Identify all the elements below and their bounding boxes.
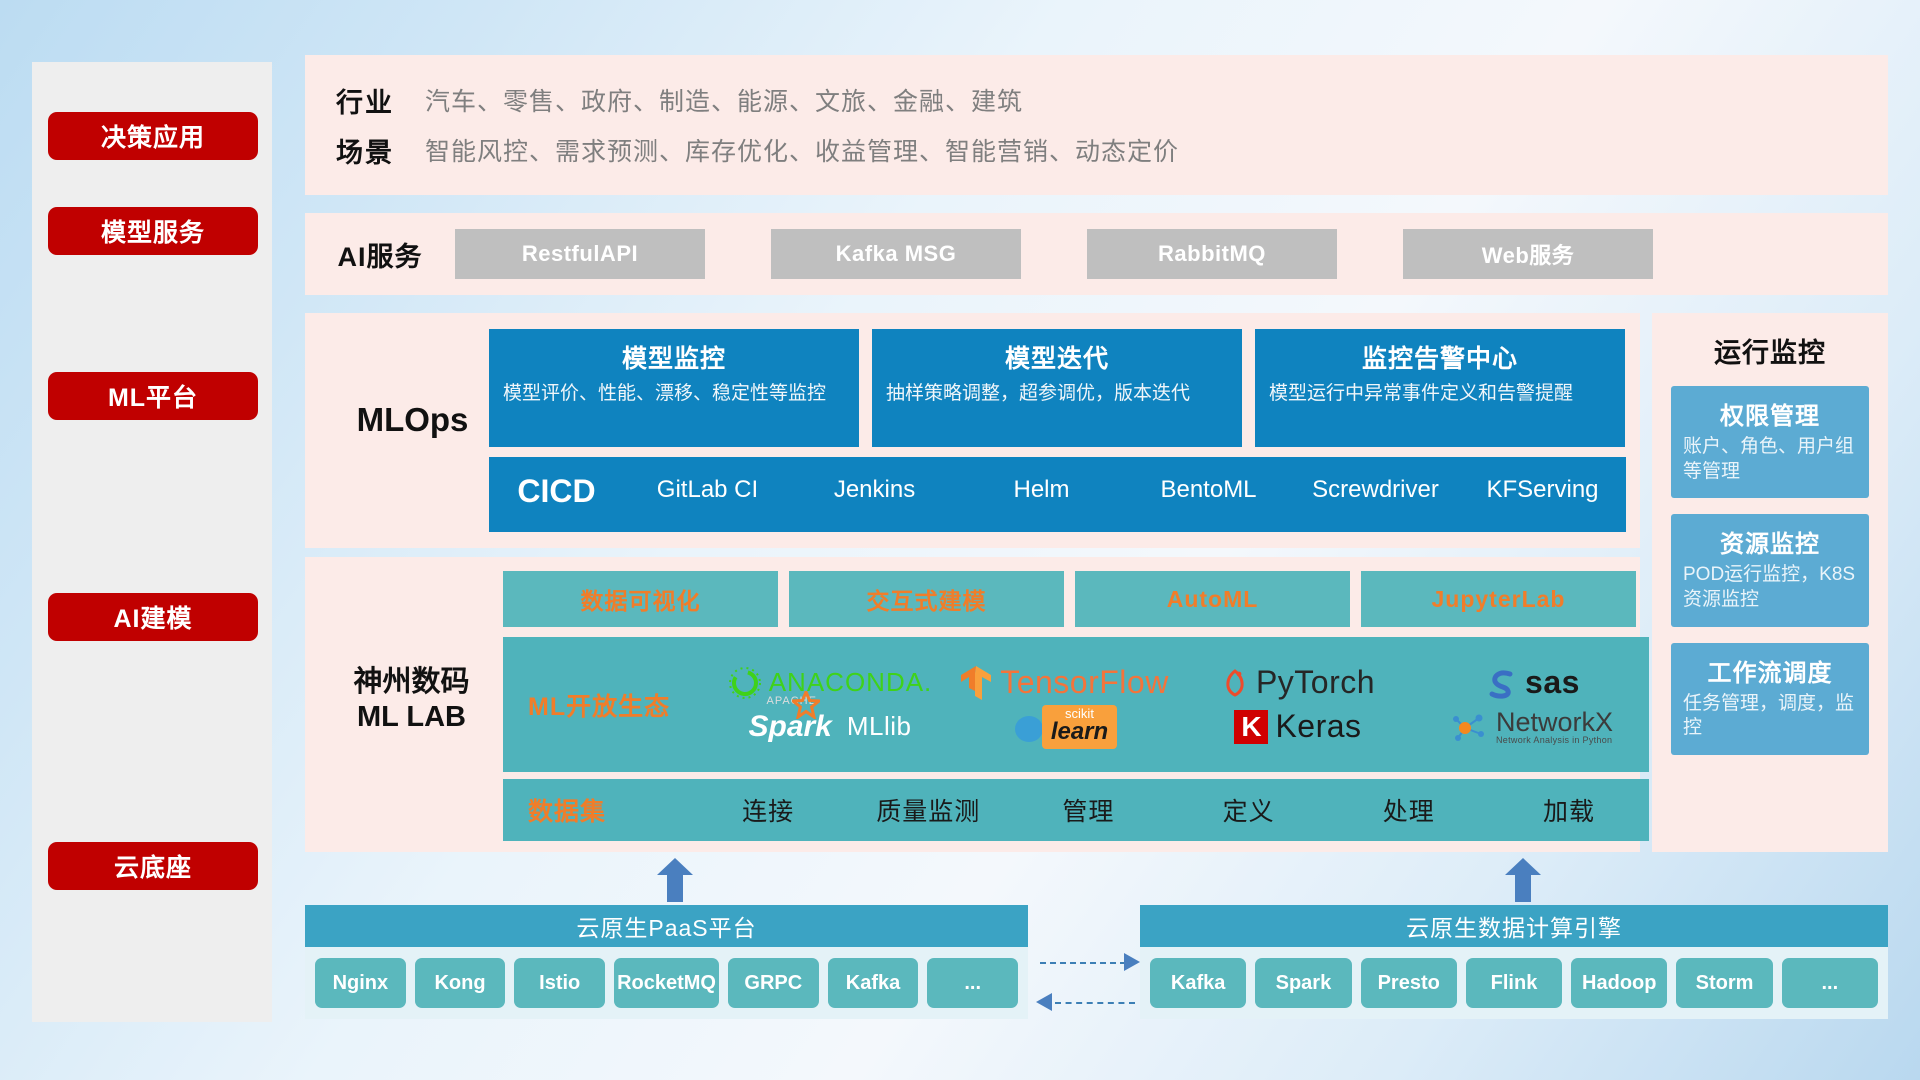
tool-box-interactive-modeling[interactable]: 交互式建模 bbox=[789, 571, 1064, 627]
data-engine-chip-group: Kafka Spark Presto Flink Hadoop Storm ..… bbox=[1140, 947, 1888, 1019]
mlops-card-model-iteration[interactable]: 模型迭代 抽样策略调整，超参调优，版本迭代 bbox=[872, 329, 1242, 447]
connector-arrowhead-right bbox=[1124, 953, 1140, 971]
data-compute-engine-title: 云原生数据计算引擎 bbox=[1140, 905, 1888, 947]
dataset-item-quality-check[interactable]: 质量监测 bbox=[848, 792, 1008, 828]
runtime-monitoring-title: 运行监控 bbox=[1652, 313, 1888, 370]
ai-service-label: AI服务 bbox=[305, 235, 455, 274]
card-title: 模型迭代 bbox=[886, 339, 1228, 375]
diagram-canvas: 决策应用 模型服务 ML平台 AI建模 云底座 行业 汽车、零售、政府、制造、能… bbox=[0, 0, 1920, 1080]
tool-box-jupyterlab[interactable]: JupyterLab bbox=[1361, 571, 1636, 627]
mlops-card-model-monitoring[interactable]: 模型监控 模型评价、性能、漂移、稳定性等监控 bbox=[489, 329, 859, 447]
scenario-row: 场景 智能风控、需求预测、库存优化、收益管理、智能营销、动态定价 bbox=[305, 125, 1888, 175]
monitor-card-resource[interactable]: 资源监控 POD运行监控，K8S资源监控 bbox=[1671, 514, 1869, 626]
engine-chip-storm[interactable]: Storm bbox=[1676, 958, 1772, 1008]
ml-lab-label-line1: 神州数码 bbox=[319, 665, 504, 700]
up-arrow-data-engine-icon bbox=[1503, 858, 1543, 902]
runtime-monitoring-band: 运行监控 权限管理 账户、角色、用户组等管理 资源监控 POD运行监控，K8S资… bbox=[1652, 313, 1888, 852]
mllib-wordmark: MLlib bbox=[847, 711, 912, 742]
dataset-item-define[interactable]: 定义 bbox=[1169, 792, 1329, 828]
card-desc: 抽样策略调整，超参调优，版本迭代 bbox=[886, 381, 1228, 406]
engine-chip-presto[interactable]: Presto bbox=[1361, 958, 1457, 1008]
anaconda-logo: ANACONDA. bbox=[728, 666, 933, 700]
connector-dash-right bbox=[1040, 962, 1126, 964]
pytorch-mark-icon bbox=[1221, 666, 1249, 700]
networkx-graph-icon bbox=[1451, 710, 1489, 744]
rail-item-ml-platform[interactable]: ML平台 bbox=[48, 372, 258, 420]
mlops-card-group: 模型监控 模型评价、性能、漂移、稳定性等监控 模型迭代 抽样策略调整，超参调优，… bbox=[489, 329, 1625, 447]
engine-chip-kafka[interactable]: Kafka bbox=[1150, 958, 1246, 1008]
paas-platform-block: 云原生PaaS平台 Nginx Kong Istio RocketMQ GRPC… bbox=[305, 905, 1028, 1019]
framework-logo-grid: ANACONDA. TensorFlow PyTorch bbox=[713, 661, 1649, 749]
service-box-restfulapi[interactable]: RestfulAPI bbox=[455, 229, 705, 279]
rail-item-decision-app[interactable]: 决策应用 bbox=[48, 112, 258, 160]
scenario-list: 智能风控、需求预测、库存优化、收益管理、智能营销、动态定价 bbox=[425, 132, 1179, 168]
connector-dash-left bbox=[1055, 1002, 1135, 1004]
dataset-label: 数据集 bbox=[503, 792, 688, 828]
cicd-item-group: GitLab CI Jenkins Helm BentoML Screwdriv… bbox=[624, 457, 1626, 502]
card-desc: 模型评价、性能、漂移、稳定性等监控 bbox=[503, 381, 845, 406]
ml-platform-band: MLOps 模型监控 模型评价、性能、漂移、稳定性等监控 模型迭代 抽样策略调整… bbox=[305, 313, 1640, 548]
paas-platform-title: 云原生PaaS平台 bbox=[305, 905, 1028, 947]
engine-chip-more[interactable]: ... bbox=[1782, 958, 1878, 1008]
ai-modeling-band: 神州数码 ML LAB 数据可视化 交互式建模 AutoML JupyterLa… bbox=[305, 557, 1640, 852]
anaconda-mark-icon bbox=[728, 666, 762, 700]
industry-list: 汽车、零售、政府、制造、能源、文旅、金融、建筑 bbox=[425, 82, 1023, 118]
tensorflow-logo: TensorFlow bbox=[959, 664, 1169, 702]
pytorch-wordmark: PyTorch bbox=[1256, 664, 1375, 701]
ml-open-ecosystem-box: ML开放生态 ANACONDA. TensorFlow bbox=[503, 637, 1649, 772]
dataset-item-load[interactable]: 加载 bbox=[1489, 792, 1649, 828]
service-box-kafka-msg[interactable]: Kafka MSG bbox=[771, 229, 1021, 279]
ml-lab-label-line2: ML LAB bbox=[319, 700, 504, 735]
card-desc: POD运行监控，K8S资源监控 bbox=[1683, 563, 1857, 612]
engine-chip-flink[interactable]: Flink bbox=[1466, 958, 1562, 1008]
monitor-card-workflow[interactable]: 工作流调度 任务管理，调度，监控 bbox=[1671, 643, 1869, 755]
cicd-item-jenkins[interactable]: Jenkins bbox=[791, 477, 958, 502]
industry-label: 行业 bbox=[305, 81, 425, 120]
tensorflow-mark-icon bbox=[959, 664, 993, 702]
cicd-bar: CICD GitLab CI Jenkins Helm BentoML Scre… bbox=[489, 457, 1626, 532]
dataset-item-connect[interactable]: 连接 bbox=[688, 792, 848, 828]
pytorch-logo: PyTorch bbox=[1221, 664, 1375, 701]
cicd-title: CICD bbox=[489, 457, 624, 510]
sas-wordmark: sas bbox=[1525, 664, 1580, 701]
rail-item-model-service[interactable]: 模型服务 bbox=[48, 207, 258, 255]
paas-chip-more[interactable]: ... bbox=[927, 958, 1018, 1008]
ai-service-band: AI服务 RestfulAPI Kafka MSG RabbitMQ Web服务 bbox=[305, 213, 1888, 295]
learn-word: learn bbox=[1051, 718, 1108, 746]
keras-mark-icon: K bbox=[1234, 710, 1268, 744]
card-title: 工作流调度 bbox=[1683, 653, 1857, 688]
engine-chip-hadoop[interactable]: Hadoop bbox=[1571, 958, 1667, 1008]
paas-chip-rocketmq[interactable]: RocketMQ bbox=[614, 958, 719, 1008]
cicd-item-bentoml[interactable]: BentoML bbox=[1125, 477, 1292, 502]
keras-wordmark: Keras bbox=[1275, 708, 1361, 745]
card-title: 监控告警中心 bbox=[1269, 339, 1611, 375]
mlops-card-alert-center[interactable]: 监控告警中心 模型运行中异常事件定义和告警提醒 bbox=[1255, 329, 1625, 447]
data-compute-engine-block: 云原生数据计算引擎 Kafka Spark Presto Flink Hadoo… bbox=[1140, 905, 1888, 1019]
paas-chip-istio[interactable]: Istio bbox=[514, 958, 605, 1008]
sas-logo: sas bbox=[1484, 664, 1580, 701]
mlops-label: MLOps bbox=[325, 401, 500, 439]
decision-application-band: 行业 汽车、零售、政府、制造、能源、文旅、金融、建筑 场景 智能风控、需求预测、… bbox=[305, 55, 1888, 195]
paas-chip-nginx[interactable]: Nginx bbox=[315, 958, 406, 1008]
card-desc: 模型运行中异常事件定义和告警提醒 bbox=[1269, 381, 1611, 406]
dataset-bar: 数据集 连接 质量监测 管理 定义 处理 加载 bbox=[503, 779, 1649, 841]
scikit-learn-logo: scikit learn bbox=[1011, 705, 1117, 749]
paas-chip-kong[interactable]: Kong bbox=[415, 958, 506, 1008]
dataset-item-manage[interactable]: 管理 bbox=[1008, 792, 1168, 828]
card-desc: 账户、角色、用户组等管理 bbox=[1683, 435, 1857, 484]
spark-mllib-logo: APACHE Spark MLlib bbox=[748, 710, 911, 744]
tool-box-data-visualization[interactable]: 数据可视化 bbox=[503, 571, 778, 627]
tool-box-automl[interactable]: AutoML bbox=[1075, 571, 1350, 627]
paas-chip-grpc[interactable]: GRPC bbox=[728, 958, 819, 1008]
layer-rail: 决策应用 模型服务 ML平台 AI建模 云底座 bbox=[32, 62, 272, 1022]
spark-star-icon bbox=[792, 691, 820, 719]
ai-service-box-group: RestfulAPI Kafka MSG RabbitMQ Web服务 bbox=[455, 229, 1653, 279]
dataset-item-group: 连接 质量监测 管理 定义 处理 加载 bbox=[688, 792, 1649, 828]
engine-chip-spark[interactable]: Spark bbox=[1255, 958, 1351, 1008]
industry-row: 行业 汽车、零售、政府、制造、能源、文旅、金融、建筑 bbox=[305, 75, 1888, 125]
card-desc: 任务管理，调度，监控 bbox=[1683, 692, 1857, 741]
networkx-wordmark: NetworkX bbox=[1496, 709, 1613, 736]
cicd-item-gitlab-ci[interactable]: GitLab CI bbox=[624, 477, 791, 502]
service-box-rabbitmq[interactable]: RabbitMQ bbox=[1087, 229, 1337, 279]
card-title: 权限管理 bbox=[1683, 396, 1857, 431]
dataset-item-process[interactable]: 处理 bbox=[1329, 792, 1489, 828]
networkx-logo: NetworkX Network Analysis in Python bbox=[1451, 709, 1613, 745]
tensorflow-wordmark: TensorFlow bbox=[1000, 664, 1169, 701]
cicd-item-kfserving[interactable]: KFServing bbox=[1459, 477, 1626, 502]
card-title: 模型监控 bbox=[503, 339, 845, 375]
cicd-item-screwdriver[interactable]: Screwdriver bbox=[1292, 477, 1459, 502]
monitor-card-permission[interactable]: 权限管理 账户、角色、用户组等管理 bbox=[1671, 386, 1869, 498]
ml-lab-label: 神州数码 ML LAB bbox=[319, 665, 504, 736]
card-title: 资源监控 bbox=[1683, 524, 1857, 559]
up-arrow-paas-icon bbox=[655, 858, 695, 902]
scenario-label: 场景 bbox=[305, 131, 425, 170]
paas-chip-kafka[interactable]: Kafka bbox=[828, 958, 919, 1008]
connector-arrowhead-left bbox=[1036, 993, 1052, 1011]
rail-item-cloud-base[interactable]: 云底座 bbox=[48, 842, 258, 890]
cicd-item-helm[interactable]: Helm bbox=[958, 477, 1125, 502]
modeling-tool-group: 数据可视化 交互式建模 AutoML JupyterLab bbox=[503, 571, 1636, 627]
keras-logo: K Keras bbox=[1234, 708, 1361, 745]
networkx-tagline: Network Analysis in Python bbox=[1496, 736, 1613, 745]
rail-item-ai-modeling[interactable]: AI建模 bbox=[48, 593, 258, 641]
sas-mark-icon bbox=[1484, 666, 1518, 700]
service-box-web-service[interactable]: Web服务 bbox=[1403, 229, 1653, 279]
paas-chip-group: Nginx Kong Istio RocketMQ GRPC Kafka ... bbox=[305, 947, 1028, 1019]
ml-open-ecosystem-label: ML开放生态 bbox=[503, 687, 713, 723]
